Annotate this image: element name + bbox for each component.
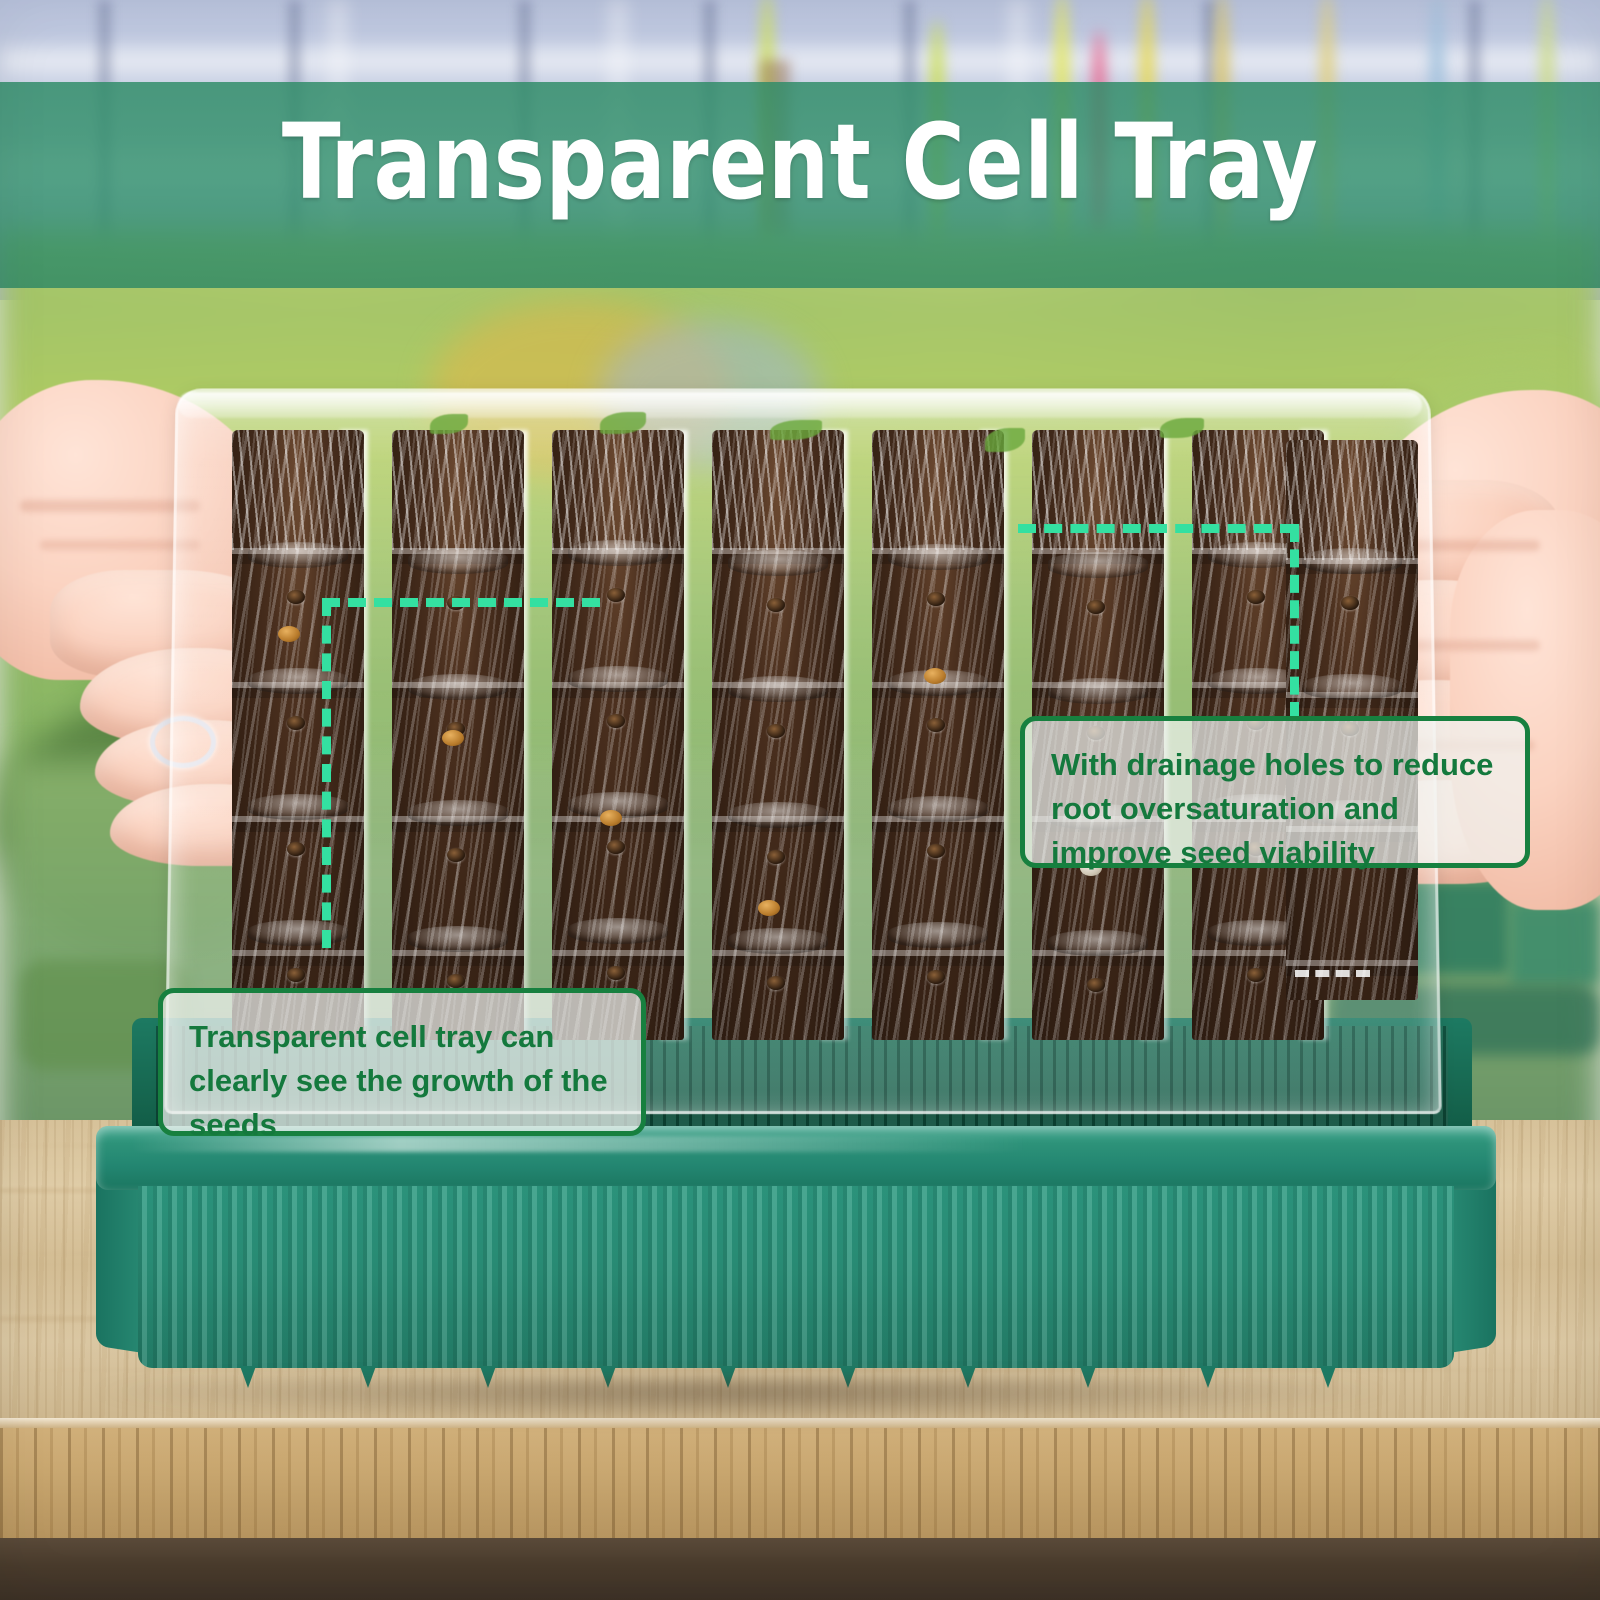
cell-column <box>392 430 524 1040</box>
infographic-canvas: Transparent Cell Tray With drainage hole… <box>0 0 1600 1600</box>
dome-lip <box>178 392 1422 418</box>
tray-drop-shadow <box>80 1378 1410 1422</box>
table-edge-grain <box>0 1428 1600 1538</box>
callout-drainage: With drainage holes to reduce root overs… <box>1020 716 1530 868</box>
cell-column <box>872 430 1004 1040</box>
page-title: Transparent Cell Tray <box>64 110 1536 214</box>
table-under-shadow <box>0 1538 1600 1600</box>
cell-column <box>552 430 684 1040</box>
callout-drainage-text: With drainage holes to reduce root overs… <box>1051 743 1499 875</box>
callout-transparency-text: Transparent cell tray can clearly see th… <box>189 1015 615 1147</box>
cell-column <box>712 430 844 1040</box>
callout-transparency: Transparent cell tray can clearly see th… <box>158 988 646 1136</box>
cell-column <box>232 430 364 1040</box>
